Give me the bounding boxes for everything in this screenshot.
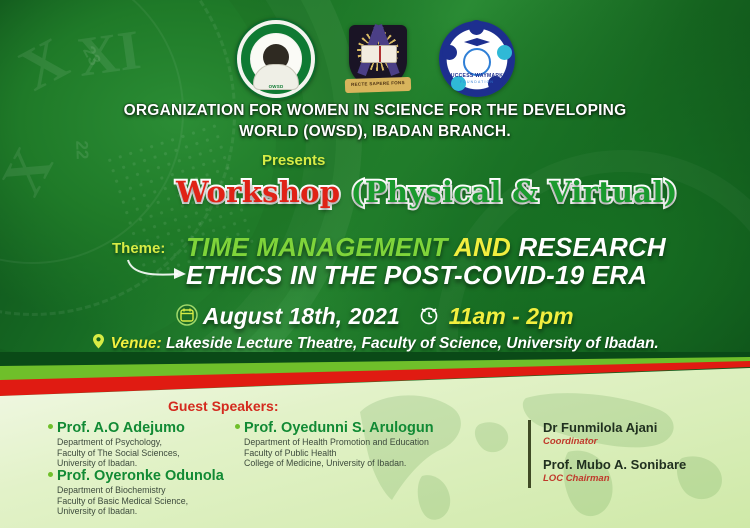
speaker-name: Prof. A.O Adejumo [57,420,185,436]
theme-line-1: TIME MANAGEMENT AND RESEARCH [186,232,666,263]
workshop-title: Workshop (Physical & Virtual) [176,175,696,213]
sw-node-left [442,45,457,60]
bullet-icon [48,472,53,477]
event-time: 11am - 2pm [449,303,574,329]
location-pin-icon [91,333,106,350]
speaker-name-row: Prof. Oyedunni S. Arulogun [235,420,485,437]
workshop-mode: (Physical & Virtual) [351,175,678,209]
owsd-logo: OWSD [235,18,317,100]
theme-research: RESEARCH [518,232,666,262]
success-waymarks-logo: SUCCESS WAYMARKS FOUNDATION [439,21,515,97]
sw-title: SUCCESS WAYMARKS [439,73,515,79]
official-name: Prof. Mubo A. Sonibare [543,457,686,473]
speaker-name-row: Prof. A.O Adejumo [48,420,233,437]
organization-heading: ORGANIZATION FOR WOMEN IN SCIENCE FOR TH… [0,100,750,142]
organization-line-1: ORGANIZATION FOR WOMEN IN SCIENCE FOR TH… [0,100,750,121]
owsd-logo-caption: OWSD [237,84,315,89]
calendar-icon [176,304,198,326]
speaker-entry-3: Prof. Oyedunni S. Arulogun Department of… [235,420,485,469]
venue-label: Venue: [111,335,162,352]
event-date: August 18th, 2021 [203,303,400,329]
official-role: Coordinator [543,436,686,448]
crest-open-book-icon [361,45,397,63]
speaker-entry-2: Prof. Oyeronke Odunola Department of Bio… [48,468,253,517]
bullet-icon [48,424,53,429]
sw-node-right [497,45,512,60]
speaker-affiliation: Department of Psychology, Faculty of The… [57,437,233,469]
official-entry-2: Prof. Mubo A. Sonibare LOC Chairman [543,457,686,485]
theme-line-2: ETHICS IN THE POST-COVID-19 ERA [186,260,647,291]
hour-number-22: 22 [71,140,92,160]
bullet-icon [235,424,240,429]
official-role: LOC Chairman [543,473,686,485]
event-flyer: X XI X 23 22 OWSD RECTE SAPERE FONS [0,0,750,528]
official-entry-1: Dr Funmilola Ajani Coordinator [543,420,686,448]
sw-node-top [469,20,484,35]
crest-motto-scroll: RECTE SAPERE FONS [345,77,411,93]
speaker-affiliation: Department of Biochemistry Faculty of Ba… [57,485,253,517]
officials-block: Dr Funmilola Ajani Coordinator Prof. Mub… [528,420,686,488]
date-time-row: August 18th, 2021 11am - 2pm [0,303,750,330]
speaker-name: Prof. Oyeronke Odunola [57,468,224,484]
guest-speakers-heading: Guest Speakers: [168,398,279,414]
alarm-clock-icon [418,304,440,326]
venue-value: Lakeside Lecture Theatre, Faculty of Sci… [166,335,659,352]
sw-subtitle: FOUNDATION [439,80,515,84]
speaker-entry-1: Prof. A.O Adejumo Department of Psycholo… [48,420,233,469]
logo-row: OWSD RECTE SAPERE FONS SUCCESS WAYMARKS … [0,18,750,100]
theme-time-management: TIME MANAGEMENT [186,232,448,262]
organization-line-2: WORLD (OWSD), IBADAN BRANCH. [0,121,750,142]
theme-label: Theme: [112,240,165,257]
official-name: Dr Funmilola Ajani [543,420,686,436]
workshop-word: Workshop [176,175,340,209]
speaker-affiliation: Department of Health Promotion and Educa… [244,437,485,469]
speaker-name: Prof. Oyedunni S. Arulogun [244,420,434,436]
globe-icon [463,48,491,76]
theme-and: AND [454,232,511,262]
crest-motto-text: RECTE SAPERE FONS [345,80,411,87]
speaker-name-row: Prof. Oyeronke Odunola [48,468,253,485]
venue-row: Venue: Lakeside Lecture Theatre, Faculty… [0,333,750,353]
presents-label: Presents [262,152,325,169]
university-of-ibadan-crest: RECTE SAPERE FONS [341,21,415,97]
